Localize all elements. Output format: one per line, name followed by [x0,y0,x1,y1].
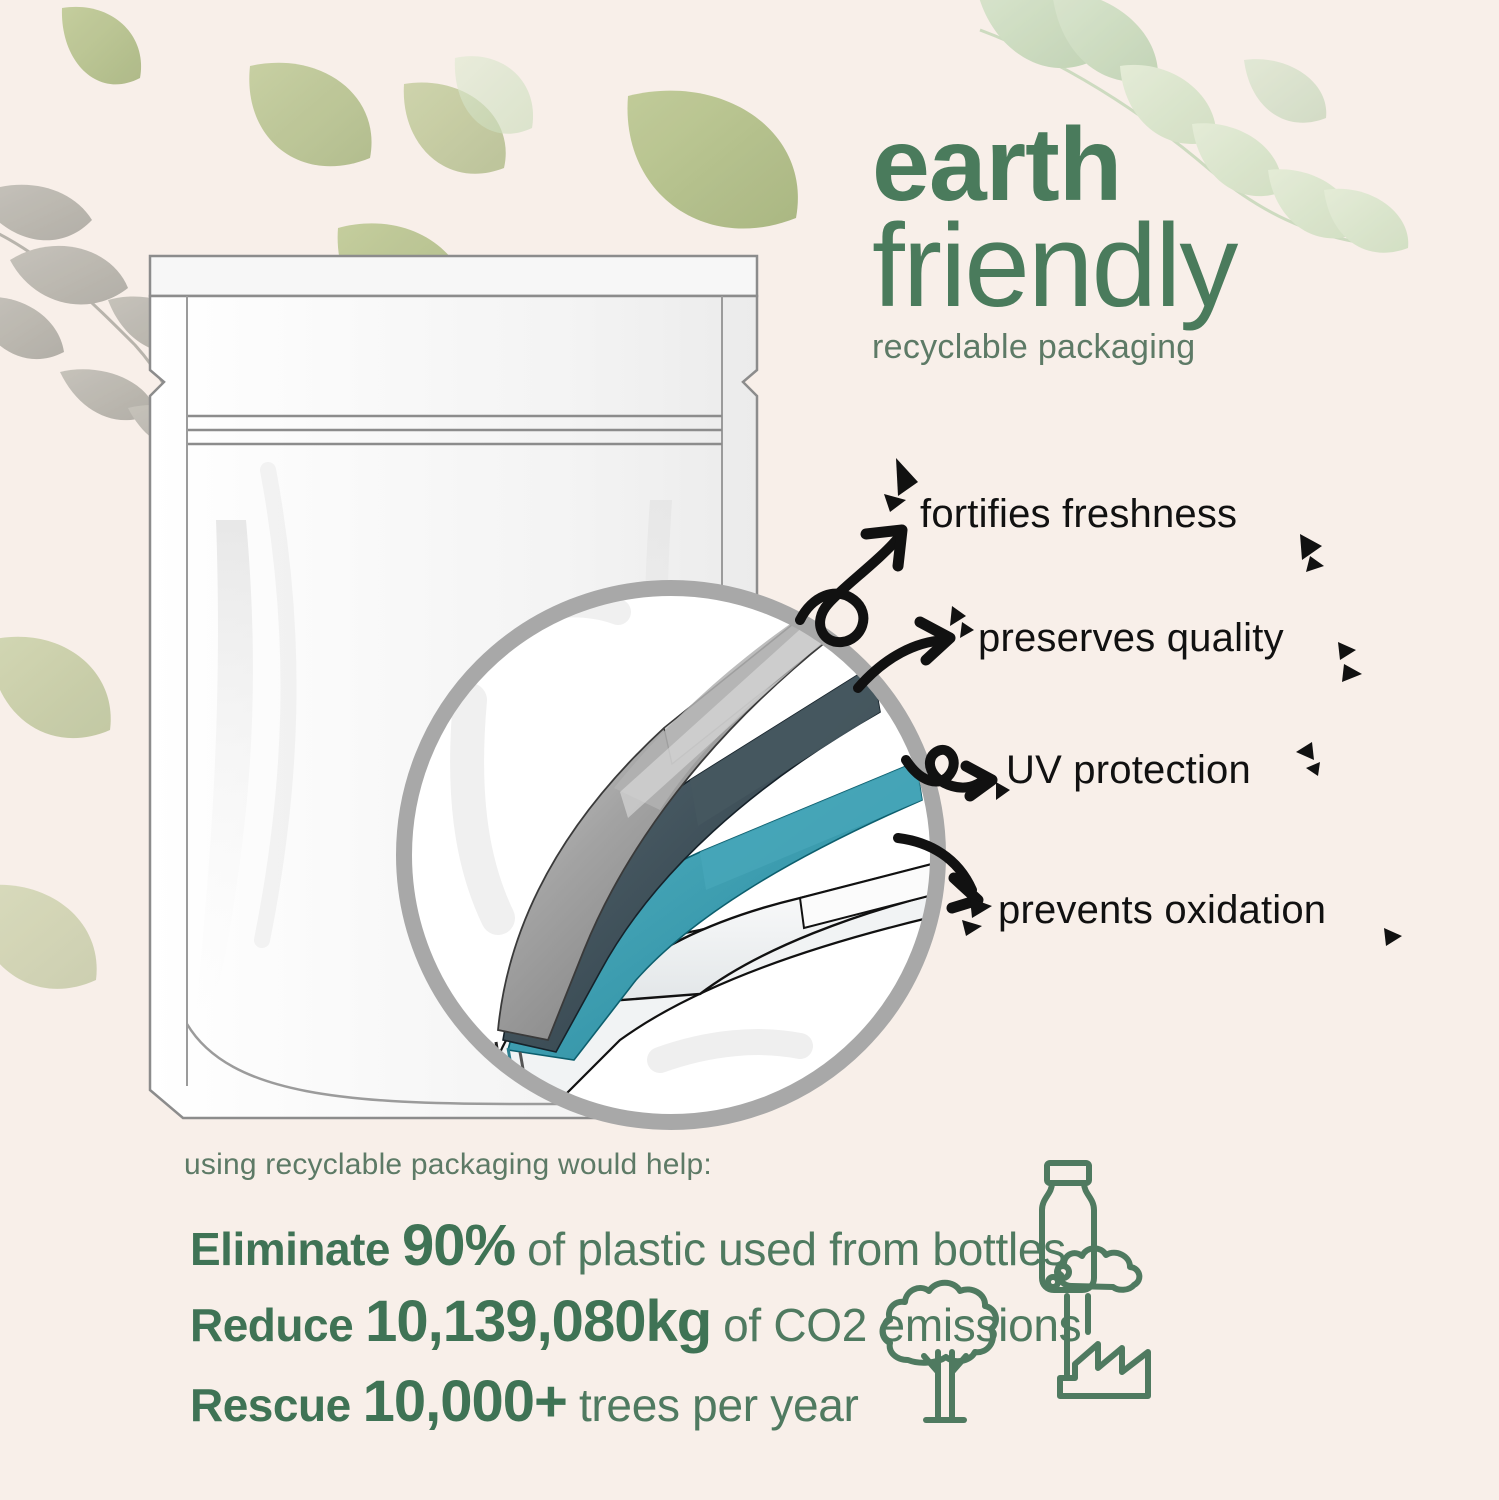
stat-icon-layer [0,0,1499,1500]
factory-icon [1048,1248,1148,1396]
infographic-canvas: earth friendly recyclable packaging fort… [0,0,1499,1500]
tree-icon [883,1283,996,1420]
